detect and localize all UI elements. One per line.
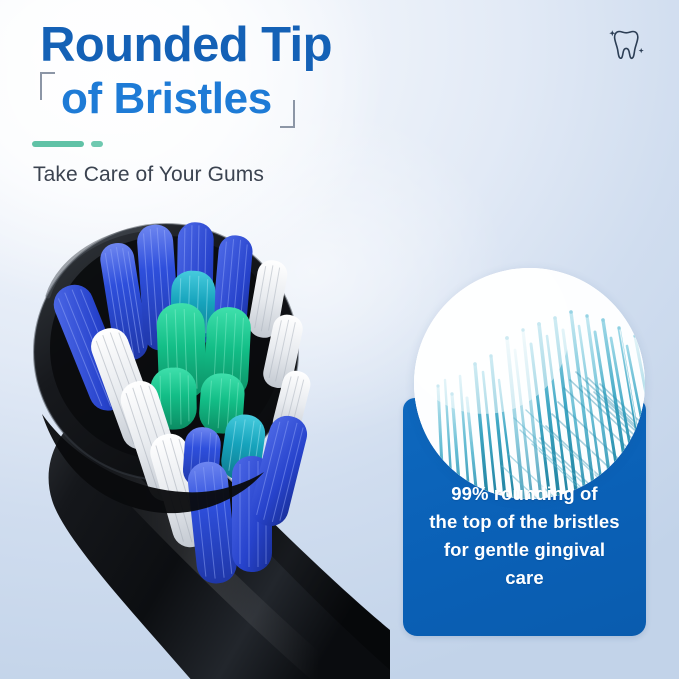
headline-block: Rounded Tip of Bristles (40, 18, 470, 124)
divider-dash-short (91, 141, 103, 147)
callout-line-4: care (403, 564, 646, 592)
bristle-magnifier-inset (414, 268, 645, 499)
headline-line-2-row: of Bristles (40, 74, 470, 124)
infographic-canvas: Rounded Tip of Bristles Take Care of You… (0, 0, 679, 679)
bracket-close-icon (280, 94, 295, 128)
bracket-open-icon (40, 72, 55, 106)
green-center-tufts (150, 302, 252, 435)
callout-line-1: 99% rounding of (403, 480, 646, 508)
headline-line-1: Rounded Tip (40, 18, 470, 72)
sparkle-icon (639, 48, 644, 53)
divider-dash-long (32, 141, 84, 147)
callout-line-2: the top of the bristles (403, 508, 646, 536)
tooth-icon (606, 22, 652, 66)
accent-divider (32, 141, 103, 147)
callout-line-3: for gentle gingival (403, 536, 646, 564)
subtitle: Take Care of Your Gums (33, 161, 264, 189)
headline-line-2: of Bristles (61, 74, 272, 124)
toothbrush-illustration (0, 200, 390, 679)
callout-text: 99% rounding of the top of the bristles … (403, 480, 646, 592)
